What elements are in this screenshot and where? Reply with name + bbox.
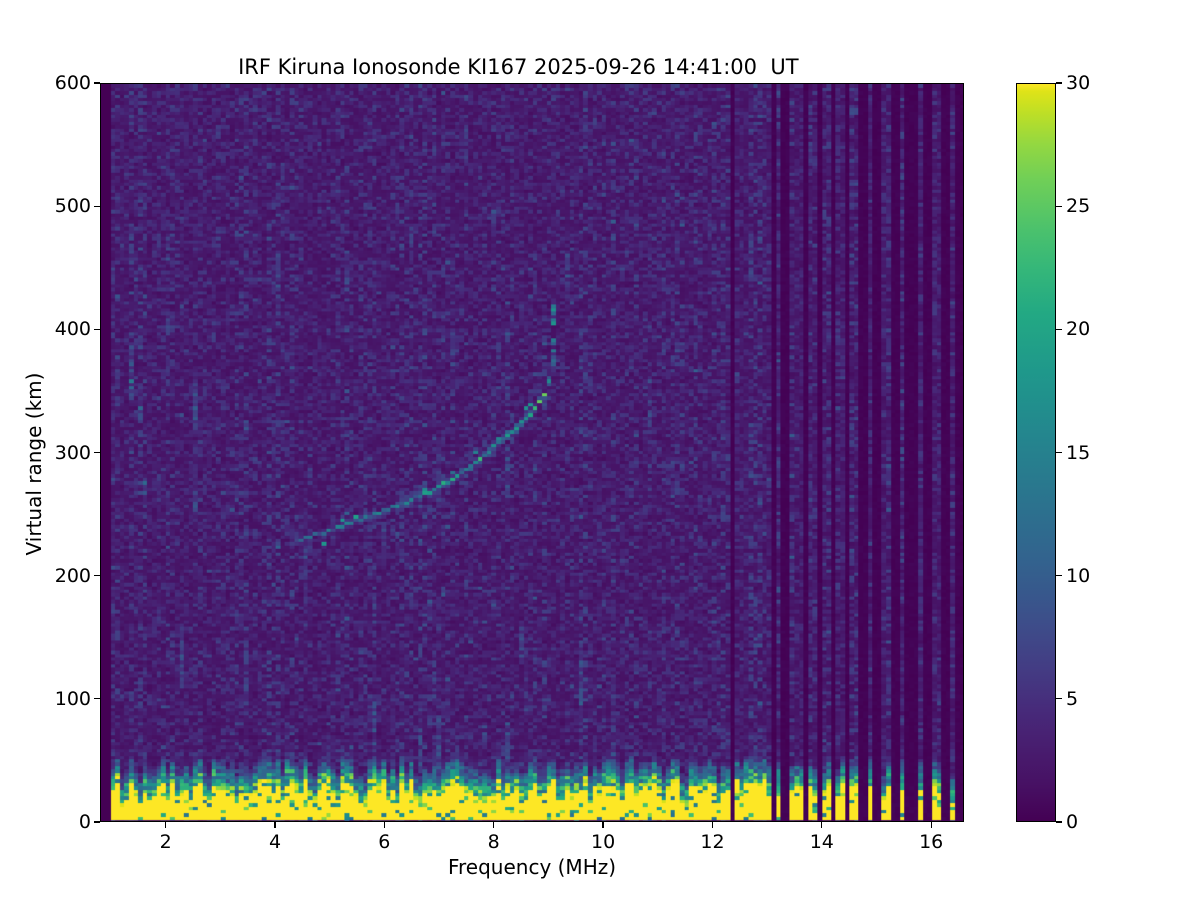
x-tick-mark	[493, 822, 494, 828]
ionogram-heatmap	[101, 84, 963, 821]
colorbar-tick-label-5: 5	[1066, 688, 1078, 710]
x-tick-label-14: 14	[810, 831, 834, 853]
y-tick-label-300: 300	[55, 442, 91, 464]
y-tick-label-600: 600	[55, 72, 91, 94]
y-tick-label-0: 0	[79, 811, 91, 833]
x-tick-mark	[165, 822, 166, 828]
y-tick-mark	[94, 82, 100, 83]
colorbar-tick-label-0: 0	[1066, 811, 1078, 833]
colorbar	[1016, 83, 1056, 822]
x-tick-mark	[274, 822, 275, 828]
ionogram-plot-area	[100, 83, 964, 822]
ionogram-figure: IRF Kiruna Ionosonde KI167 2025-09-26 14…	[0, 0, 1200, 900]
x-tick-label-16: 16	[919, 831, 943, 853]
x-tick-label-12: 12	[700, 831, 724, 853]
x-tick-label-4: 4	[269, 831, 281, 853]
y-axis-title: Virtual range (km)	[22, 334, 46, 594]
colorbar-tick-mark	[1056, 821, 1062, 822]
figure-title-line1: IRF Kiruna Ionosonde KI167 2025-09-26 14…	[238, 55, 798, 79]
x-tick-mark	[821, 822, 822, 828]
colorbar-tick-mark	[1056, 698, 1062, 699]
x-tick-mark	[931, 822, 932, 828]
y-tick-mark	[94, 821, 100, 822]
y-tick-mark	[94, 575, 100, 576]
x-tick-mark	[384, 822, 385, 828]
x-tick-label-10: 10	[591, 831, 615, 853]
colorbar-tick-label-30: 30	[1066, 72, 1090, 94]
y-tick-mark	[94, 329, 100, 330]
y-tick-mark	[94, 698, 100, 699]
colorbar-tick-mark	[1056, 329, 1062, 330]
colorbar-tick-mark	[1056, 206, 1062, 207]
colorbar-tick-mark	[1056, 575, 1062, 576]
x-tick-mark	[712, 822, 713, 828]
y-tick-mark	[94, 206, 100, 207]
x-tick-mark	[602, 822, 603, 828]
y-tick-label-400: 400	[55, 318, 91, 340]
x-axis-title: Frequency (MHz)	[100, 855, 964, 879]
y-tick-label-200: 200	[55, 565, 91, 587]
x-tick-label-2: 2	[160, 831, 172, 853]
colorbar-tick-mark	[1056, 82, 1062, 83]
x-tick-label-8: 8	[488, 831, 500, 853]
colorbar-tick-label-15: 15	[1066, 442, 1090, 464]
y-tick-label-500: 500	[55, 195, 91, 217]
y-tick-label-100: 100	[55, 688, 91, 710]
colorbar-tick-label-25: 25	[1066, 195, 1090, 217]
colorbar-tick-label-10: 10	[1066, 565, 1090, 587]
y-tick-mark	[94, 452, 100, 453]
colorbar-tick-mark	[1056, 452, 1062, 453]
x-tick-label-6: 6	[378, 831, 390, 853]
colorbar-tick-label-20: 20	[1066, 318, 1090, 340]
